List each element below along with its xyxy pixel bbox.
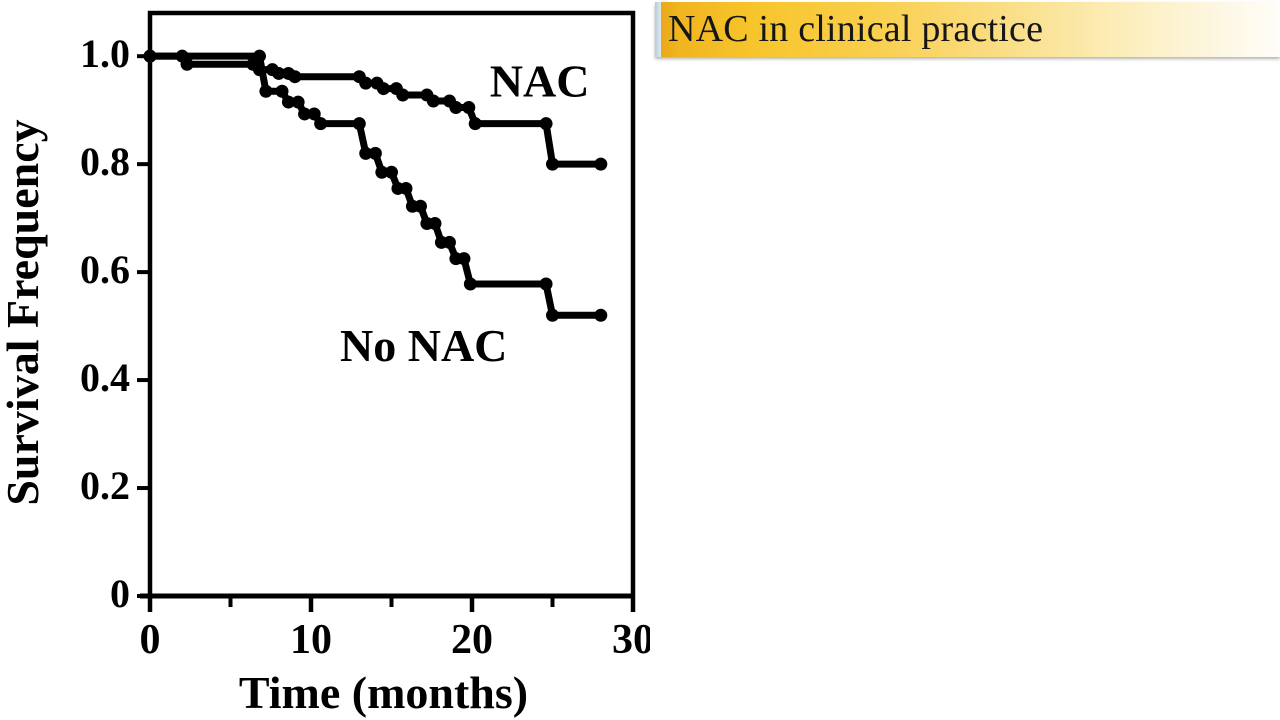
y-axis-tick-label: 0.2 <box>80 463 130 508</box>
series-marker <box>464 277 477 290</box>
series-marker <box>540 277 553 290</box>
series-marker <box>443 236 456 249</box>
series-marker <box>462 101 475 114</box>
series-marker <box>288 70 301 83</box>
series-marker <box>396 89 409 102</box>
series-marker <box>428 217 441 230</box>
series-marker <box>540 117 553 130</box>
series-marker <box>181 58 194 71</box>
series-marker <box>144 50 157 63</box>
chart-annotation-no-nac: No NAC <box>340 320 507 371</box>
x-axis-tick-label: 10 <box>290 617 332 663</box>
y-axis-tick-label: 0.4 <box>80 355 130 400</box>
y-axis-title: Survival Frequency <box>0 119 48 505</box>
y-axis-tick-label: 0.6 <box>80 247 130 292</box>
series-marker <box>469 117 482 130</box>
series-marker <box>594 309 607 322</box>
series-marker <box>292 96 305 109</box>
series-marker <box>546 309 559 322</box>
x-axis-tick-label: 30 <box>612 617 650 663</box>
y-axis-tick-label: 0 <box>110 571 130 616</box>
series-marker <box>353 117 366 130</box>
series-marker <box>385 166 398 179</box>
series-marker <box>314 117 327 130</box>
chart-annotation-nac: NAC <box>490 56 590 107</box>
series-marker <box>399 182 412 195</box>
series-marker <box>427 94 440 107</box>
series-marker <box>414 200 427 213</box>
series-marker <box>594 158 607 171</box>
series-marker <box>359 77 372 90</box>
y-axis-tick-label: 0.8 <box>80 139 130 184</box>
series-marker <box>253 50 266 63</box>
series-marker <box>457 252 470 265</box>
survival-chart-panel: 00.20.40.60.81.00102030NACNo NACTime (mo… <box>0 0 650 720</box>
series-marker <box>369 147 382 160</box>
series-marker <box>449 101 462 114</box>
y-axis-tick-label: 1.0 <box>80 31 130 76</box>
slide-title-bar: NAC in clinical practice <box>655 2 1280 57</box>
kaplan-meier-chart: 00.20.40.60.81.00102030NACNo NACTime (mo… <box>0 0 650 720</box>
x-axis-tick-label: 20 <box>451 617 493 663</box>
page-title: NAC in clinical practice <box>668 3 1043 55</box>
series-marker <box>377 82 390 95</box>
x-axis-title: Time (months) <box>239 667 528 718</box>
series-marker <box>259 85 272 98</box>
series-marker <box>546 158 559 171</box>
series-marker <box>276 85 289 98</box>
x-axis-tick-label: 0 <box>140 617 161 663</box>
slide-panel: NAC in clinical practice Citation: Europ… <box>650 0 1280 720</box>
